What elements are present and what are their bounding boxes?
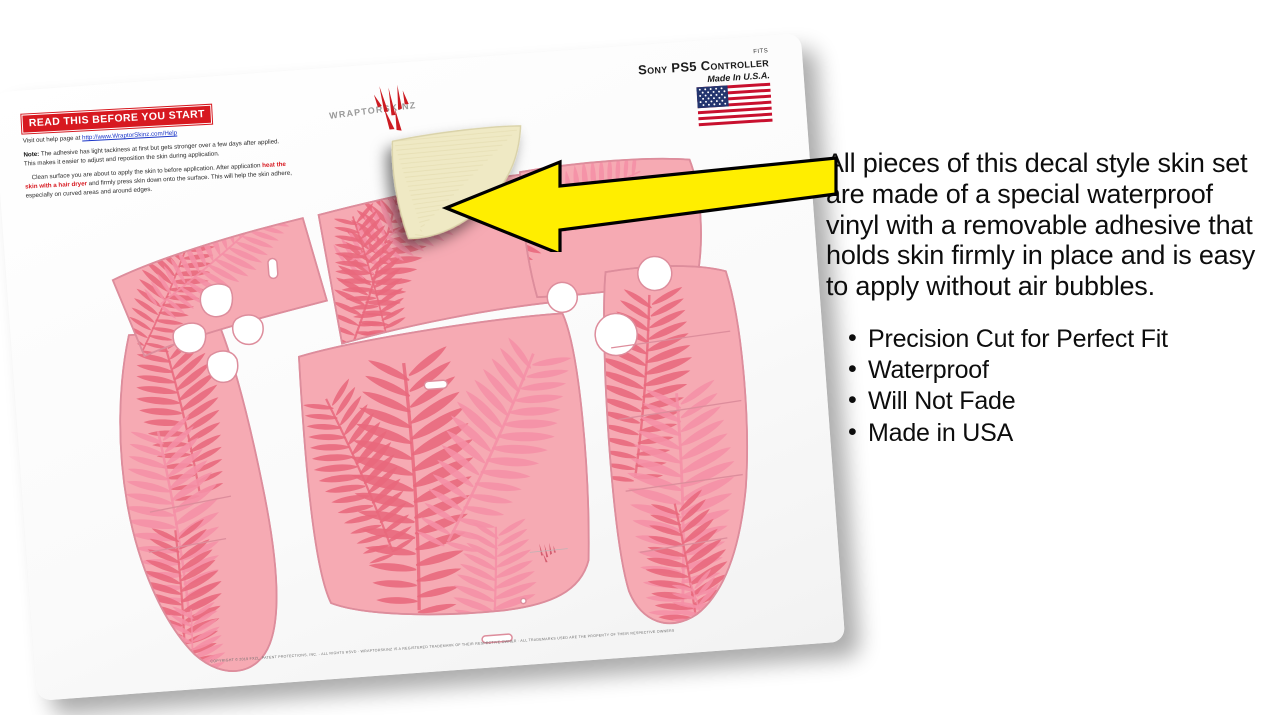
skin-cutout <box>268 258 278 279</box>
promo-panel: All pieces of this decal style skin set … <box>826 148 1266 449</box>
usa-flag-icon <box>696 82 772 127</box>
list-item: Precision Cut for Perfect Fit <box>848 324 1266 355</box>
skin-piece-center-touchpad-panel <box>281 311 616 700</box>
promo-feature-list: Precision Cut for Perfect Fit Waterproof… <box>826 324 1266 449</box>
skin-cutout <box>232 314 264 346</box>
skin-cutout <box>424 380 448 390</box>
promo-paragraph: All pieces of this decal style skin set … <box>826 148 1266 302</box>
left-pointing-arrow-icon <box>440 136 840 252</box>
sheet-paper: READ THIS BEFORE YOU START Visit out hel… <box>0 33 845 701</box>
wraptorskinz-watermark <box>527 539 570 564</box>
list-item: Will Not Fade <box>848 386 1266 417</box>
list-item: Waterproof <box>848 355 1266 386</box>
wraptorskinz-logo: WRAPTORSKINZ <box>323 77 456 138</box>
sheet-header: FITS Sony PS5 Controller Made In U.S.A. <box>637 48 773 135</box>
help-url-link[interactable]: http://www.WraptorSkinz.com/Help <box>82 130 177 142</box>
svg-text:WRAPTORSKINZ: WRAPTORSKINZ <box>329 100 417 121</box>
instructions-block: READ THIS BEFORE YOU START Visit out hel… <box>21 100 293 202</box>
note-label: Note: <box>23 151 39 159</box>
list-item: Made in USA <box>848 418 1266 449</box>
decal-sheet: READ THIS BEFORE YOU START Visit out hel… <box>0 33 845 701</box>
skin-cutout <box>521 598 527 604</box>
help-line-prefix: Visit out help page at <box>23 135 83 145</box>
